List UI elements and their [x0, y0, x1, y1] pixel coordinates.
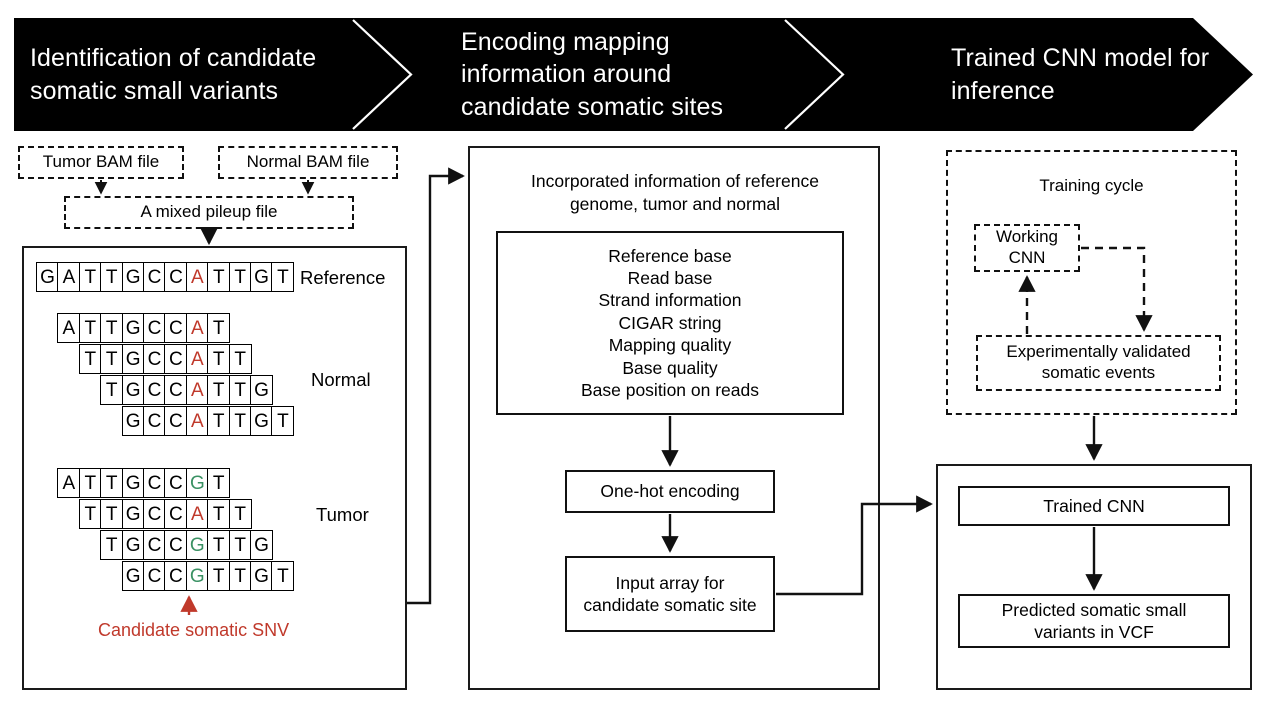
reference-sequence-row: GATTGCCATTGT [36, 262, 293, 292]
base-cell: C [143, 561, 166, 591]
base-cell: A [186, 313, 209, 343]
normal-read-row: TTGCCATT [79, 344, 250, 374]
base-cell: T [100, 344, 123, 374]
tumor-read-row: TGCCGTTG [100, 530, 271, 560]
base-cell: C [164, 468, 187, 498]
banner-stage-1-label: Identification of candidate somatic smal… [30, 42, 330, 107]
base-cell: T [79, 262, 102, 292]
base-cell: C [164, 530, 187, 560]
base-cell: G [122, 499, 145, 529]
base-cell: C [164, 344, 187, 374]
base-cell: G [122, 262, 145, 292]
base-cell: T [229, 375, 252, 405]
predicted-variants-box[interactable]: Predicted somatic small variants in VCF [958, 594, 1230, 648]
base-cell: G [122, 530, 145, 560]
base-cell: A [57, 468, 80, 498]
base-cell: A [186, 406, 209, 436]
normal-read-row: GCCATTGT [122, 406, 293, 436]
base-cell: C [143, 344, 166, 374]
base-cell: T [207, 530, 230, 560]
base-cell: T [100, 313, 123, 343]
base-cell: G [122, 468, 145, 498]
base-cell: T [100, 530, 123, 560]
tumor-read-row: TTGCCATT [79, 499, 250, 529]
base-cell: G [36, 262, 59, 292]
base-cell: T [100, 499, 123, 529]
base-cell: G [186, 530, 209, 560]
normal-bam-label: Normal BAM file [247, 152, 370, 173]
base-cell: G [250, 262, 273, 292]
base-cell: T [229, 499, 252, 529]
pipeline-banner: Identification of candidate somatic smal… [14, 18, 1253, 131]
base-cell: T [207, 313, 230, 343]
base-cell: C [164, 406, 187, 436]
base-cell: C [164, 375, 187, 405]
banner-stage-2: Encoding mapping information around cand… [461, 18, 791, 131]
base-cell: G [250, 530, 273, 560]
base-cell: T [207, 262, 230, 292]
tumor-bam-box[interactable]: Tumor BAM file [18, 146, 184, 179]
base-cell: G [250, 561, 273, 591]
base-cell: G [122, 561, 145, 591]
banner-stage-2-label: Encoding mapping information around cand… [461, 26, 781, 124]
mixed-pileup-label: A mixed pileup file [140, 202, 277, 223]
base-cell: G [122, 313, 145, 343]
candidate-snv-caption: Candidate somatic SNV [98, 620, 289, 641]
base-cell: T [271, 561, 294, 591]
normal-bam-box[interactable]: Normal BAM file [218, 146, 398, 179]
base-cell: C [164, 262, 187, 292]
base-cell: A [57, 262, 80, 292]
incorporated-info-heading: Incorporated information of reference ge… [495, 170, 855, 216]
base-cell: G [186, 561, 209, 591]
feature-list-box: Reference base Read base Strand informat… [496, 231, 844, 415]
base-cell: T [229, 344, 252, 374]
one-hot-encoding-box[interactable]: One-hot encoding [565, 470, 775, 513]
base-cell: T [229, 406, 252, 436]
base-cell: T [100, 468, 123, 498]
base-cell: G [122, 406, 145, 436]
banner-stage-3: Trained CNN model for inference [951, 18, 1251, 131]
validated-events-box[interactable]: Experimentally validated somatic events [976, 335, 1221, 391]
validated-events-label: Experimentally validated somatic events [986, 342, 1211, 383]
base-cell: T [79, 468, 102, 498]
working-cnn-box[interactable]: Working CNN [974, 224, 1080, 272]
banner-stage-1: Identification of candidate somatic smal… [30, 18, 350, 131]
base-cell: C [143, 468, 166, 498]
base-cell: T [229, 262, 252, 292]
base-cell: C [143, 313, 166, 343]
input-array-label: Input array for candidate somatic site [580, 572, 760, 617]
base-cell: T [207, 375, 230, 405]
normal-read-row: ATTGCCAT [57, 313, 228, 343]
base-cell: T [207, 561, 230, 591]
tumor-read-row: GCCGTTGT [122, 561, 293, 591]
reference-row-label: Reference [300, 267, 385, 289]
base-cell: T [79, 313, 102, 343]
one-hot-encoding-label: One-hot encoding [600, 480, 739, 502]
base-cell: C [143, 262, 166, 292]
base-cell: C [143, 375, 166, 405]
tumor-group-label: Tumor [316, 504, 369, 526]
base-cell: A [186, 344, 209, 374]
base-cell: T [207, 344, 230, 374]
base-cell: G [122, 375, 145, 405]
base-cell: A [186, 499, 209, 529]
tumor-read-row: ATTGCCGT [57, 468, 228, 498]
base-cell: T [207, 468, 230, 498]
connector-left-to-middle [407, 176, 463, 603]
base-cell: A [57, 313, 80, 343]
base-cell: A [186, 262, 209, 292]
normal-read-row: TGCCATTG [100, 375, 271, 405]
tumor-bam-label: Tumor BAM file [43, 152, 160, 173]
mixed-pileup-box[interactable]: A mixed pileup file [64, 196, 354, 229]
feature-list: Reference base Read base Strand informat… [581, 245, 759, 402]
base-cell: T [229, 561, 252, 591]
base-cell: G [250, 375, 273, 405]
base-cell: C [143, 406, 166, 436]
base-cell: G [122, 344, 145, 374]
banner-stage-3-label: Trained CNN model for inference [951, 42, 1236, 107]
base-cell: C [164, 499, 187, 529]
base-cell: C [164, 561, 187, 591]
working-cnn-label: Working CNN [981, 227, 1073, 268]
base-cell: T [207, 499, 230, 529]
base-cell: T [100, 262, 123, 292]
normal-group-label: Normal [311, 369, 371, 391]
base-cell: G [250, 406, 273, 436]
training-cycle-label: Training cycle [1039, 176, 1143, 197]
trained-cnn-label: Trained CNN [1043, 495, 1144, 517]
base-cell: T [271, 406, 294, 436]
base-cell: C [143, 499, 166, 529]
base-cell: C [164, 313, 187, 343]
predicted-variants-label: Predicted somatic small variants in VCF [969, 599, 1219, 644]
base-cell: T [79, 344, 102, 374]
base-cell: C [143, 530, 166, 560]
base-cell: T [207, 406, 230, 436]
base-cell: T [100, 375, 123, 405]
diagram-canvas: Identification of candidate somatic smal… [0, 0, 1267, 704]
base-cell: T [79, 499, 102, 529]
trained-cnn-box[interactable]: Trained CNN [958, 486, 1230, 526]
base-cell: T [229, 530, 252, 560]
base-cell: G [186, 468, 209, 498]
base-cell: T [271, 262, 294, 292]
input-array-box[interactable]: Input array for candidate somatic site [565, 556, 775, 632]
base-cell: A [186, 375, 209, 405]
